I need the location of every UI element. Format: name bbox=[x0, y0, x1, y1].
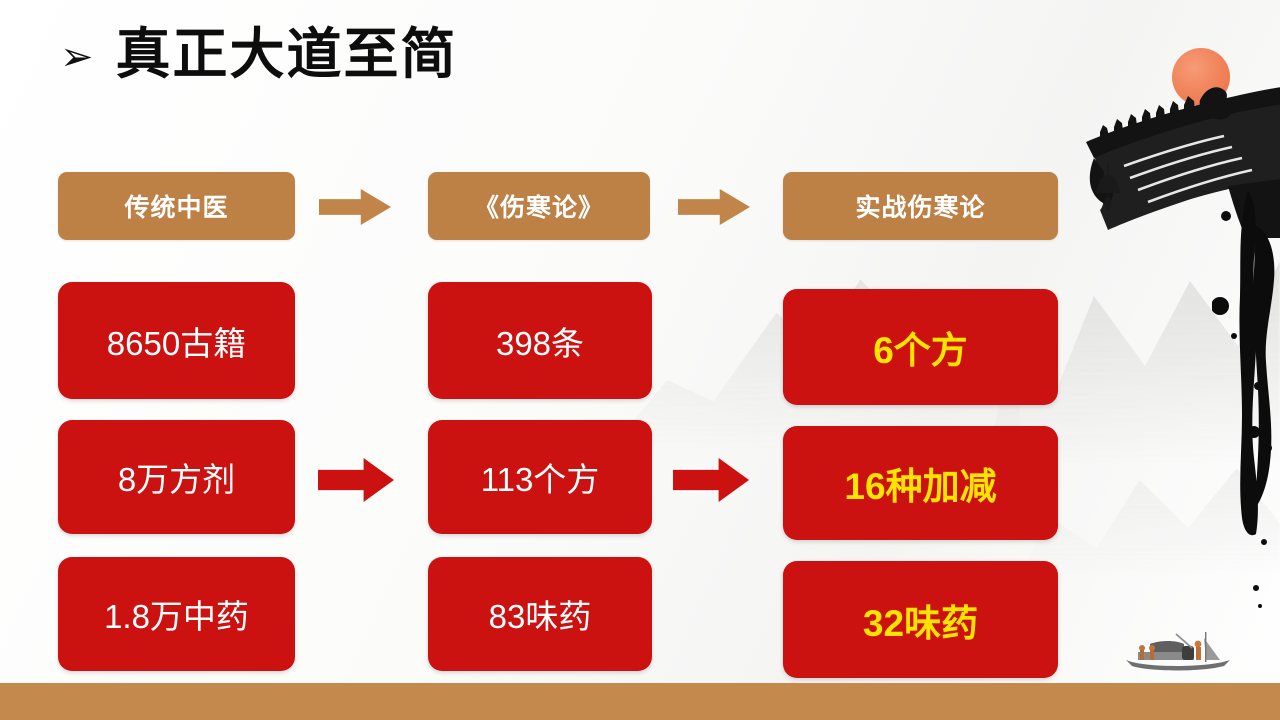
stat-box-col1-row1[interactable]: 8650古籍 bbox=[58, 282, 295, 399]
stat-box-col2-row1[interactable]: 398条 bbox=[428, 282, 652, 399]
river-boat-icon bbox=[1120, 630, 1240, 676]
page-title: 真正大道至简 bbox=[116, 26, 458, 84]
stat-box-col1-row3[interactable]: 1.8万中药 bbox=[58, 557, 295, 671]
stat-box-col1-row2[interactable]: 8万方剂 bbox=[58, 420, 295, 534]
right-arrow-icon bbox=[678, 189, 750, 225]
footer-bar bbox=[0, 683, 1280, 720]
stat-box-col2-row3[interactable]: 83味药 bbox=[428, 557, 652, 671]
hanging-bell-icon bbox=[1095, 162, 1121, 220]
stat-box-col3-row3[interactable]: 32味药 bbox=[783, 561, 1058, 678]
header-chip-shanghanlun[interactable]: 《伤寒论》 bbox=[428, 172, 650, 240]
header-chip-traditional[interactable]: 传统中医 bbox=[58, 172, 295, 240]
slide-title-row: ➢ 真正大道至简 bbox=[60, 26, 458, 84]
right-arrow-icon bbox=[673, 458, 749, 502]
header-chip-practical[interactable]: 实战伤寒论 bbox=[783, 172, 1058, 240]
stat-box-col2-row2[interactable]: 113个方 bbox=[428, 420, 652, 534]
chinese-roof-eave-icon bbox=[1078, 70, 1280, 250]
slide-canvas: ➢ 真正大道至简 传统中医 《伤寒论》 实战伤寒论 8650古籍 8万方剂 1.… bbox=[0, 0, 1280, 720]
bullet-arrow-icon: ➢ bbox=[60, 37, 94, 77]
sun-icon bbox=[1172, 48, 1230, 106]
header-chain: 传统中医 《伤寒论》 实战伤寒论 bbox=[58, 172, 1068, 240]
stat-box-col3-row1[interactable]: 6个方 bbox=[783, 289, 1058, 405]
ink-splatter-icon bbox=[1212, 186, 1280, 616]
stat-box-col3-row2[interactable]: 16种加减 bbox=[783, 426, 1058, 540]
right-arrow-icon bbox=[319, 189, 391, 225]
right-arrow-icon bbox=[318, 458, 394, 502]
